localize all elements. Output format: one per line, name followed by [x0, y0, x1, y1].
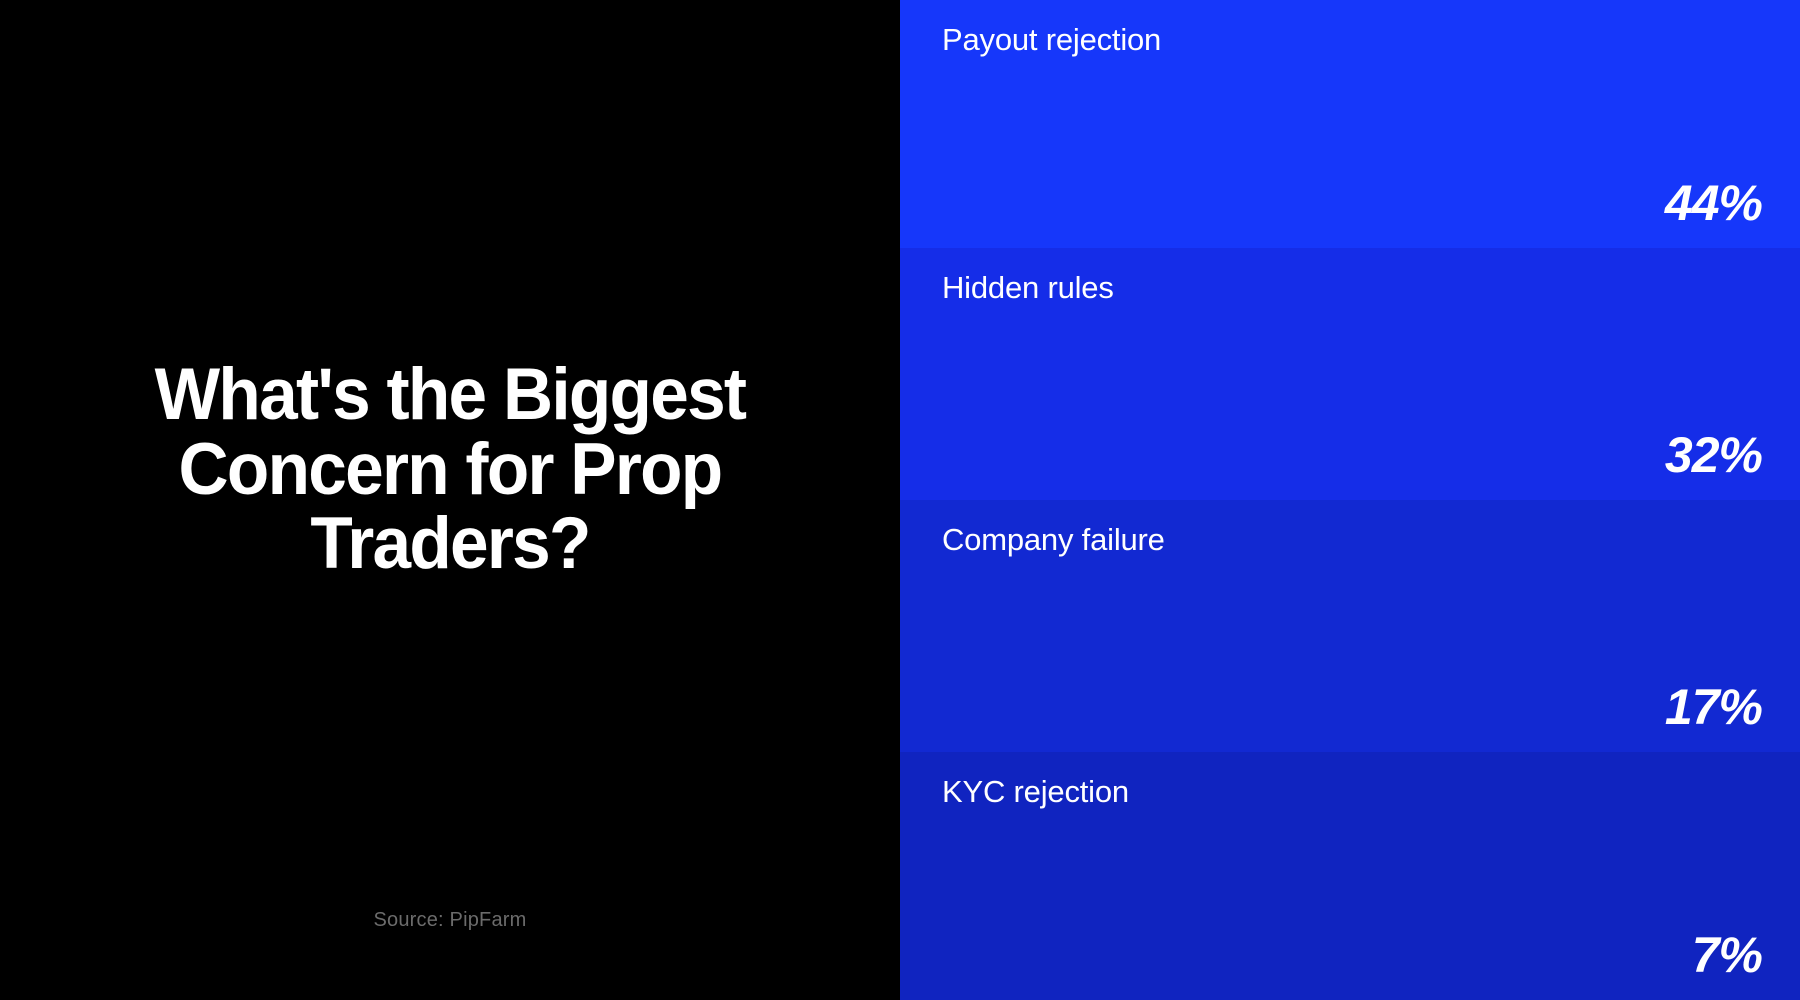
source-attribution: Source: PipFarm: [0, 909, 900, 932]
infographic-poster: What's the Biggest Concern for Prop Trad…: [0, 0, 1800, 1000]
page-title: What's the Biggest Concern for Prop Trad…: [118, 358, 783, 641]
bar-label: Payout rejection: [942, 22, 1161, 58]
chart-bar-row: Payout rejection 44%: [900, 0, 1800, 248]
bar-value: 7%: [1692, 926, 1762, 984]
bar-value: 44%: [1665, 174, 1762, 232]
bar-value: 17%: [1665, 678, 1762, 736]
bar-label: KYC rejection: [942, 774, 1129, 810]
chart-bar-row: KYC rejection 7%: [900, 752, 1800, 1000]
bar-label: Company failure: [942, 522, 1165, 558]
chart-bar-row: Company failure 17%: [900, 500, 1800, 752]
bar-value: 32%: [1665, 426, 1762, 484]
bar-label: Hidden rules: [942, 270, 1114, 306]
title-panel: What's the Biggest Concern for Prop Trad…: [0, 0, 900, 1000]
chart-bar-row: Hidden rules 32%: [900, 248, 1800, 500]
bar-chart: Payout rejection 44% Hidden rules 32% Co…: [900, 0, 1800, 1000]
